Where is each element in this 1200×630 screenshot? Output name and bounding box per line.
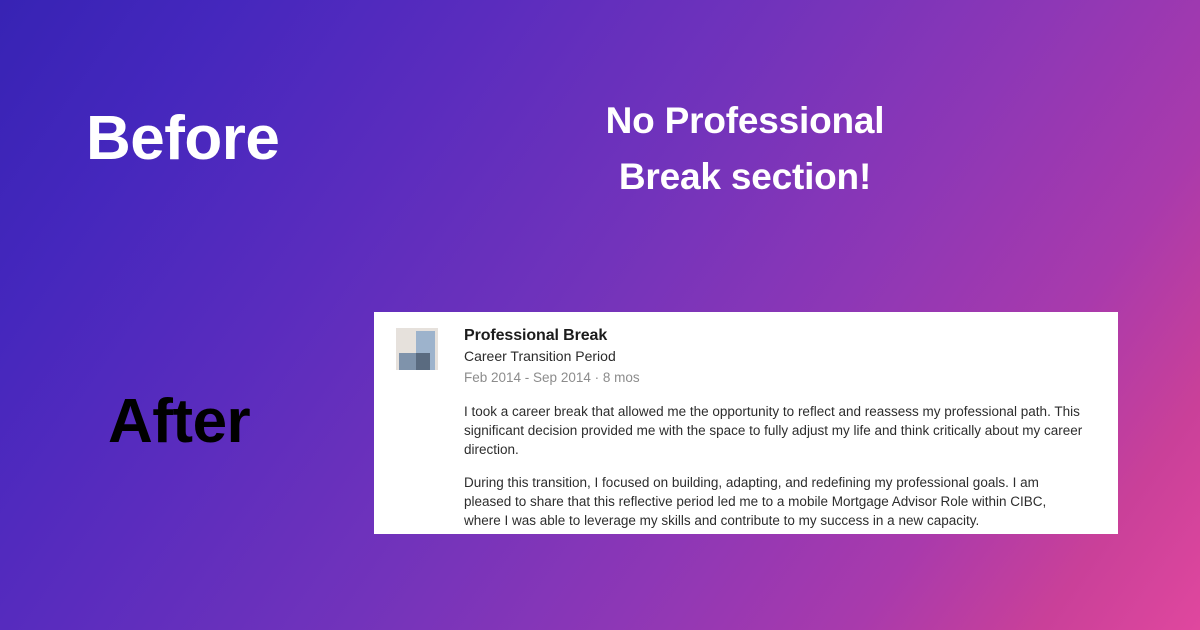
experience-title: Professional Break bbox=[464, 326, 640, 346]
experience-card: Professional Break Career Transition Per… bbox=[374, 312, 1118, 534]
experience-description: I took a career break that allowed me th… bbox=[464, 402, 1096, 531]
experience-meta: Professional Break Career Transition Per… bbox=[464, 326, 640, 388]
experience-header: Professional Break Career Transition Per… bbox=[396, 326, 1096, 388]
experience-paragraph: During this transition, I focused on bui… bbox=[464, 473, 1086, 530]
company-logo-icon bbox=[396, 328, 438, 370]
experience-subtitle: Career Transition Period bbox=[464, 347, 640, 367]
experience-paragraph: I took a career break that allowed me th… bbox=[464, 402, 1086, 459]
callout-text: No Professional Break section! bbox=[545, 93, 945, 205]
after-label: After bbox=[108, 391, 250, 453]
promo-graphic: Before No Professional Break section! Af… bbox=[0, 0, 1200, 630]
logo-bar-short bbox=[399, 353, 416, 370]
callout-line-2: Break section! bbox=[545, 149, 945, 205]
callout-line-1: No Professional bbox=[545, 93, 945, 149]
experience-dates: Feb 2014 - Sep 2014 · 8 mos bbox=[464, 368, 640, 387]
before-label: Before bbox=[86, 108, 279, 170]
logo-bar-dark bbox=[416, 353, 430, 370]
